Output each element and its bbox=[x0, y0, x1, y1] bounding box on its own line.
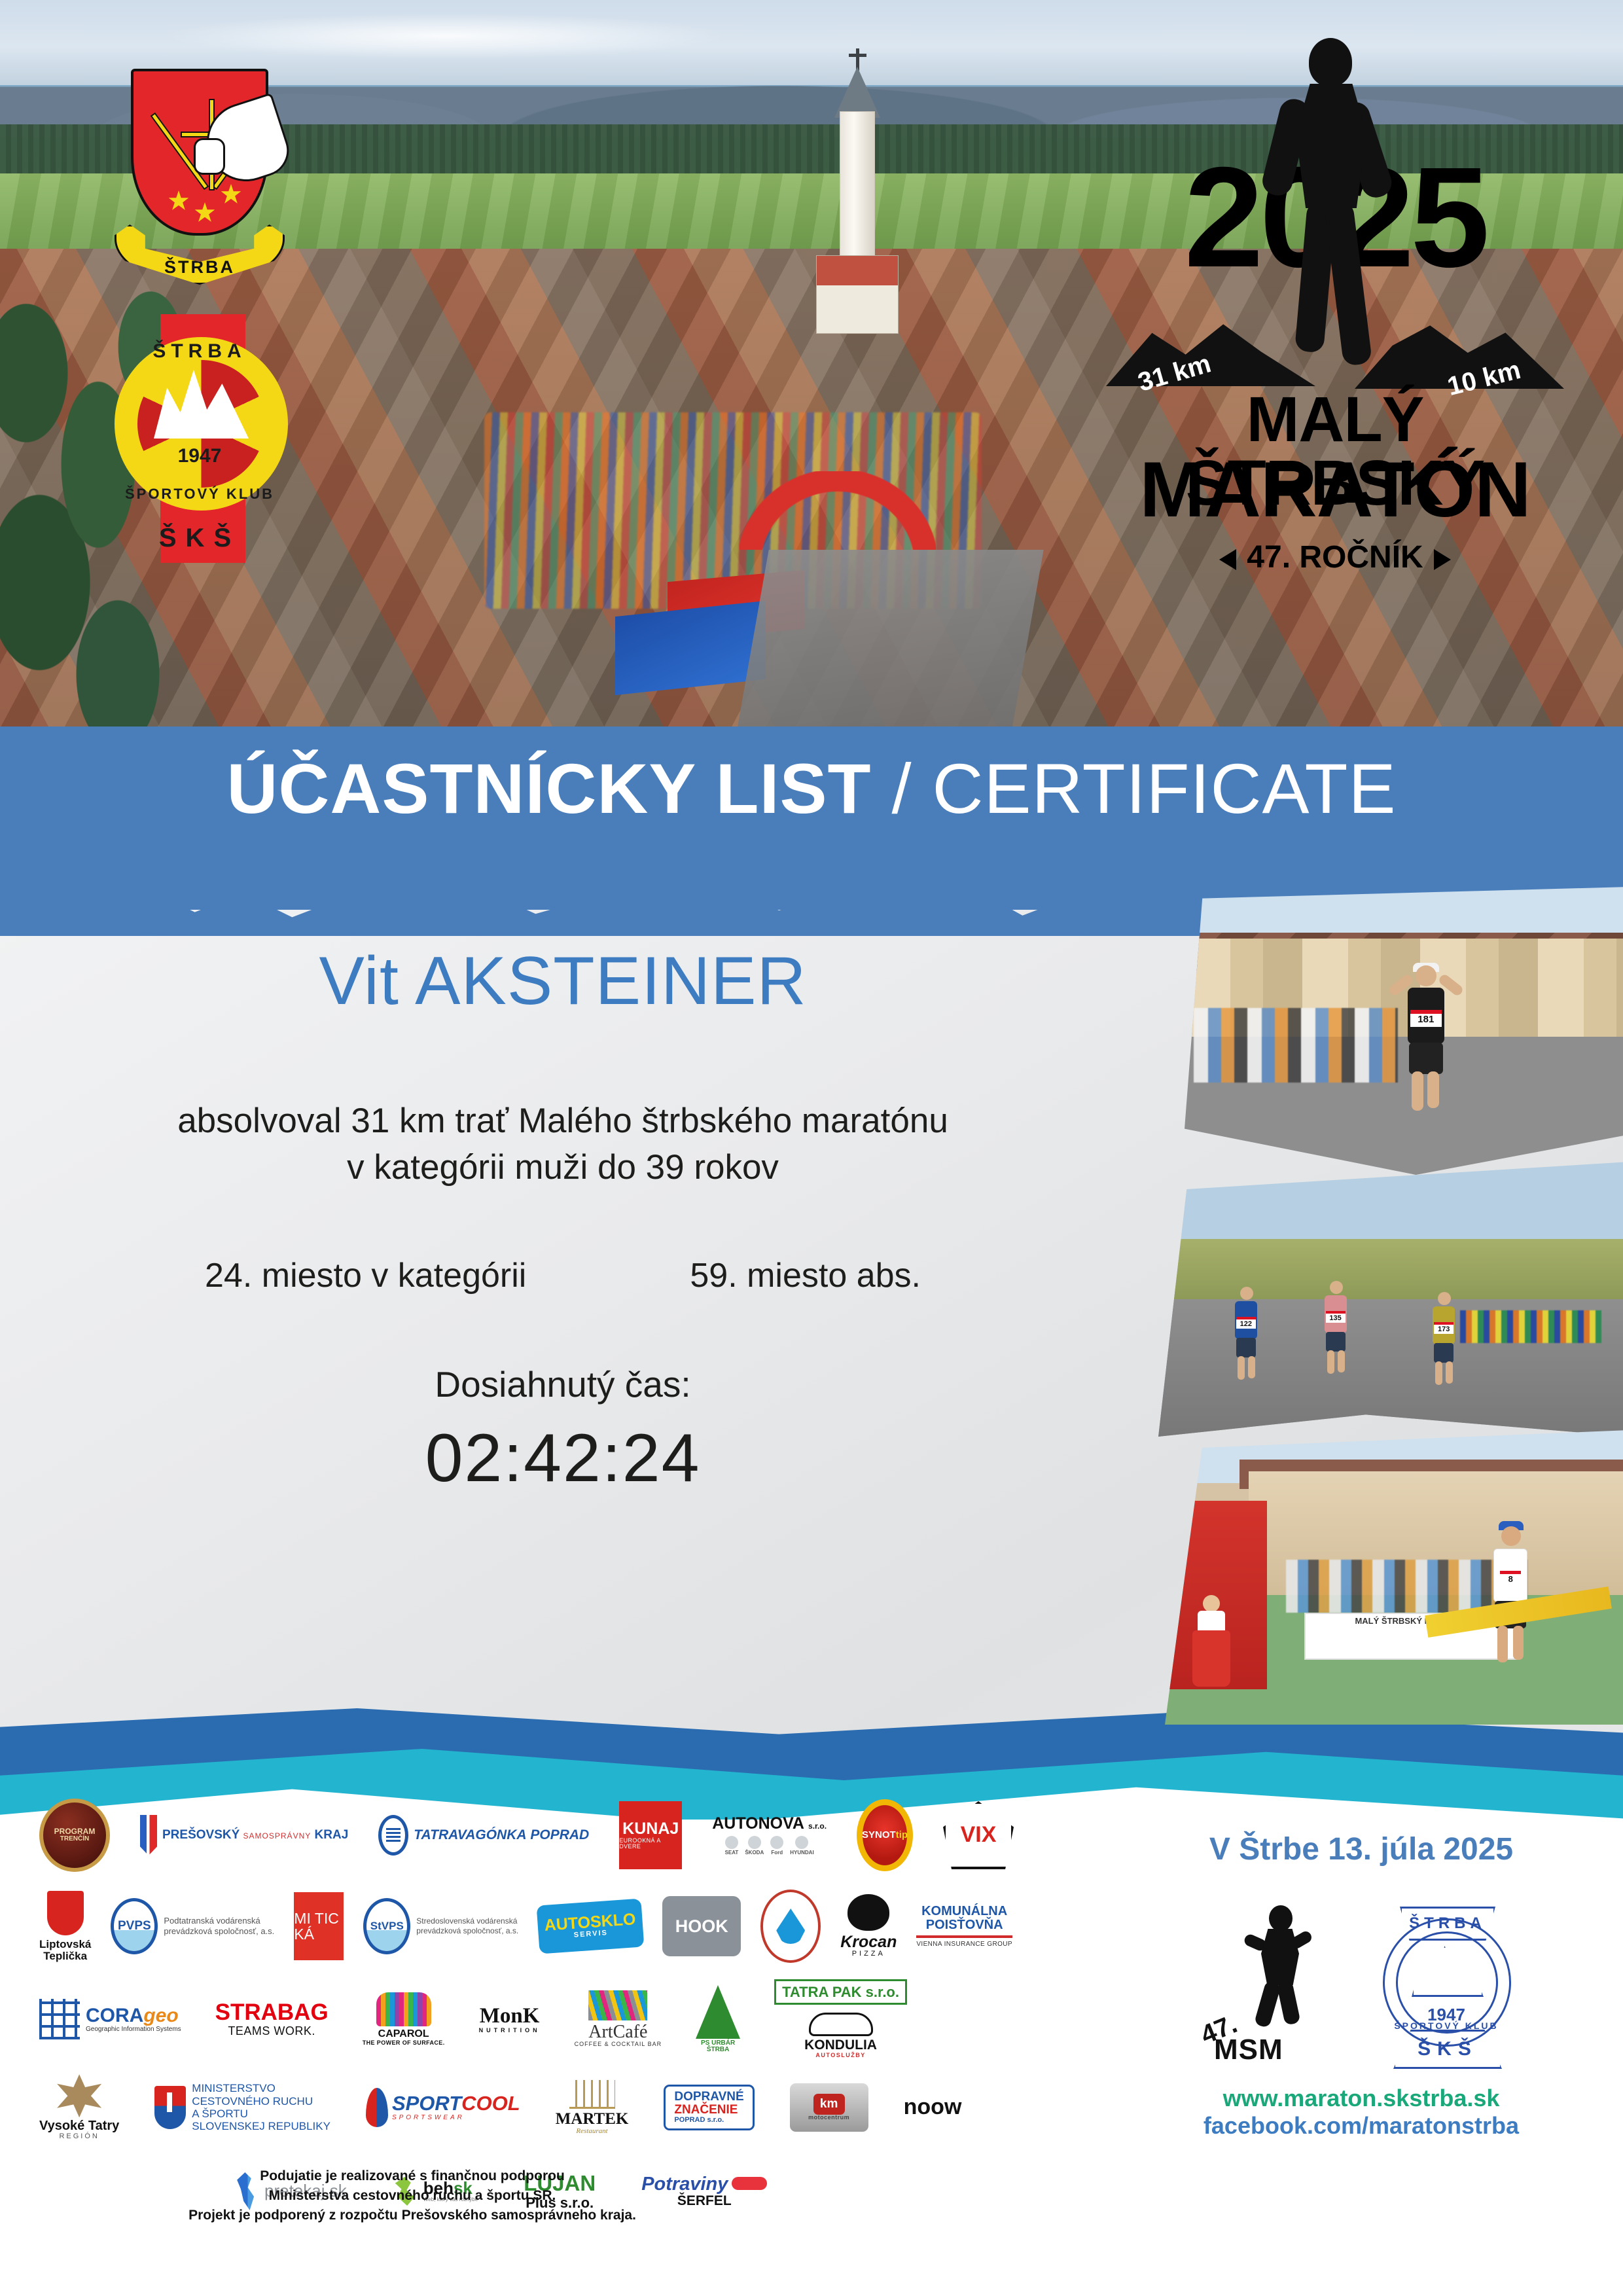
spire bbox=[834, 67, 880, 118]
sponsor-label: AUTONOVA bbox=[712, 1814, 804, 1833]
star-icon bbox=[220, 184, 242, 206]
club-logo-initials: ŠKŠ bbox=[108, 524, 291, 553]
sponsor-hook[interactable]: HOOK bbox=[662, 1896, 741, 1956]
funding-note-line-1: Podujatie je realizované s finančnou pod… bbox=[65, 2166, 759, 2186]
sponsor-stvps[interactable]: StVPS Stredoslovenská vodárenská prevádz… bbox=[363, 1898, 518, 1954]
msm-runner-head bbox=[1269, 1905, 1293, 1931]
caparol-elephant-icon bbox=[376, 1992, 431, 2026]
sponsor-sublabel: geo bbox=[143, 2005, 178, 2026]
event-edition: 47. ROČNÍK bbox=[1099, 539, 1571, 575]
photo1-spectators bbox=[1194, 1008, 1399, 1083]
funding-note-line-2: Ministerstva cestovného ruchu a športu S… bbox=[65, 2186, 759, 2206]
sponsor-label: KUNAJ bbox=[622, 1820, 679, 1837]
sponsor-vix[interactable]: VIX bbox=[943, 1801, 1014, 1869]
title-en: CERTIFICATE bbox=[933, 749, 1397, 828]
sponsor-sublabel: NUTRITION bbox=[479, 2028, 541, 2034]
sponsor-label-block: MINISTERSTVO CESTOVNÉHO RUCHU A ŠPORTU S… bbox=[192, 2082, 330, 2133]
footer-logos: 47. MSM ŠTRBA 1947 ŠPORTOVÝ KLUB ŠKŠ bbox=[1139, 1905, 1584, 2069]
runner-leg-right bbox=[1513, 1626, 1524, 1660]
sponsor-stack-tatrapak-kondulia: TATRA PAK s.r.o. KONDULIA AUTOSLUŽBY bbox=[774, 1979, 907, 2059]
sponsor-label: CORA bbox=[86, 2005, 143, 2026]
sponsor-sublabel2: VIENNA INSURANCE GROUP bbox=[916, 1941, 1012, 1948]
church-nave bbox=[816, 255, 899, 334]
sponsor-label: noow bbox=[904, 2096, 962, 2119]
sponsor-label: VIX bbox=[961, 1823, 997, 1847]
sponsor-label: MINISTERSTVO bbox=[192, 2082, 276, 2094]
runner-head bbox=[1416, 965, 1436, 986]
car-brand-row: SEAT ŠKODA Ford HYUNDAI bbox=[725, 1836, 814, 1856]
sponsor-program-trencin[interactable]: PROGRAM TRENČÍN bbox=[39, 1799, 110, 1872]
runner-leg-left bbox=[1238, 1356, 1245, 1380]
sponsor-row-4: Vysoké Tatry REGIÓN MINISTERSTVO CESTOVN… bbox=[39, 2066, 1152, 2149]
presov-flag-icon bbox=[140, 1815, 157, 1856]
seal-top-label: ŠTRBA bbox=[1400, 1907, 1495, 1941]
sponsor-monk-nutrition[interactable]: MonK NUTRITION bbox=[479, 2005, 541, 2034]
sponsor-sublabel: REGIÓN bbox=[59, 2133, 99, 2141]
sponsor-sublabel2: KRAJ bbox=[315, 1828, 349, 1842]
sponsor-label: MARTEK bbox=[556, 2111, 629, 2128]
contact-urls: www.maraton.skstrba.sk facebook.com/mara… bbox=[1139, 2085, 1584, 2140]
description-line-1: absolvoval 31 km trať Malého štrbského m… bbox=[0, 1098, 1126, 1144]
seal-rotated-label: ŠPORTOVÝ KLUB bbox=[1371, 2020, 1522, 2031]
sponsor-krocan-pizza[interactable]: Krocan PIZZA bbox=[840, 1894, 897, 1958]
msm-logo: 47. MSM bbox=[1201, 1905, 1332, 2069]
funding-note-line-3: Projekt je podporený z rozpočtu Prešovsk… bbox=[65, 2206, 759, 2225]
sponsor-label-block: PREŠOVSKÝ SAMOSPRÁVNY KRAJ bbox=[162, 1829, 348, 1842]
sponsor-label-block: DOPRAVNÉ ZNAČENIE POPRAD s.r.o. bbox=[674, 2090, 743, 2125]
sponsor-label-block: SPORTCOOL SPORTSWEAR bbox=[392, 2093, 520, 2121]
sponsor-label: Stredoslovenská vodárenská bbox=[416, 1916, 517, 1926]
cutlery-icon bbox=[569, 2080, 615, 2109]
title-band: ÚČASTNÍCKY LIST / CERTIFICATE bbox=[0, 726, 1623, 910]
sponsor-sublabel: AUTOSLUŽBY bbox=[815, 2053, 865, 2058]
sponsor-sublabel: TEAMS WORK. bbox=[228, 2025, 315, 2037]
photo-female-runner: 181 bbox=[1185, 887, 1623, 1175]
event-wordmark: 2025 31 km 10 km MALÝ ŠTRBSKÝ MARATÓN 47… bbox=[1099, 26, 1571, 596]
girl-skirt bbox=[1192, 1630, 1230, 1687]
photo3-winner: 8 bbox=[1474, 1518, 1546, 1669]
sponsor-tatravagonka-poprad[interactable]: TATRAVAGÓNKA POPRAD bbox=[378, 1815, 589, 1856]
runner-head bbox=[1240, 1287, 1253, 1300]
msm-abbr: MSM bbox=[1214, 2034, 1283, 2066]
sponsor-label: CAPAROL bbox=[378, 2029, 429, 2040]
bib-number: 181 bbox=[1410, 1014, 1442, 1025]
water-drop-icon bbox=[776, 1909, 805, 1944]
runner-shorts bbox=[1434, 1343, 1454, 1363]
race-bib: 8 bbox=[1500, 1571, 1521, 1587]
page-title: ÚČASTNÍCKY LIST / CERTIFICATE bbox=[0, 747, 1623, 829]
facebook-url[interactable]: facebook.com/maratonstrba bbox=[1139, 2112, 1584, 2140]
corageo-grid-icon bbox=[39, 1999, 80, 2039]
church-icon bbox=[815, 85, 900, 360]
sponsor-kunaj[interactable]: KUNAJ EUROOKNÁ A DVERE bbox=[619, 1801, 682, 1869]
sportcool-flame-icon bbox=[366, 2088, 388, 2127]
sponsor-synot-tip[interactable]: SYNOTtip bbox=[857, 1799, 913, 1871]
sponsor-label: PREŠOVSKÝ bbox=[162, 1828, 240, 1842]
sponsor-tatrapak[interactable]: TATRA PAK s.r.o. bbox=[774, 1979, 907, 2005]
sponsor-autosklo-servis[interactable]: AUTOSKLO SERVIS bbox=[537, 1899, 645, 1954]
sponsor-ministerstvo[interactable]: MINISTERSTVO CESTOVNÉHO RUCHU A ŠPORTU S… bbox=[154, 2082, 330, 2133]
sponsor-autonova[interactable]: AUTONOVA s.r.o. SEAT ŠKODA Ford HYUNDAI bbox=[712, 1815, 827, 1856]
pvps-emblem-icon: PVPS bbox=[111, 1898, 158, 1954]
artcafe-stripes-icon bbox=[588, 1990, 647, 2020]
sponsor-label: SPORT bbox=[392, 2092, 461, 2115]
runner-shorts bbox=[1236, 1338, 1256, 1357]
sponsor-liptovska-teplicka[interactable]: Liptovská Teplička bbox=[39, 1891, 91, 1962]
sponsor-label: MonK bbox=[480, 2005, 540, 2028]
runner-shorts bbox=[1409, 1043, 1443, 1074]
photo2-runner-pack bbox=[1460, 1310, 1601, 1343]
title-separator: / bbox=[871, 749, 932, 828]
sponsor-sublabel3: SLOVENSKEJ REPUBLIKY bbox=[192, 2120, 330, 2132]
seal-bottom-label: ŠKŠ bbox=[1393, 2030, 1502, 2069]
sponsor-sublabel: POISŤOVŇA bbox=[926, 1918, 1003, 1932]
race-bib: 135 bbox=[1326, 1311, 1346, 1323]
runner-head bbox=[1501, 1526, 1521, 1546]
sponsor-sublabel: COFFEE & COCKTAIL BAR bbox=[575, 2041, 662, 2047]
sponsor-row-3: CORAgeo Geographic Information Systems S… bbox=[39, 1975, 1152, 2063]
sponsor-sublabel: COOL bbox=[461, 2092, 520, 2115]
hand bbox=[194, 138, 225, 175]
event-edition-label: 47. ROČNÍK bbox=[1247, 540, 1423, 575]
sponsor-label: KONDULIA bbox=[804, 2038, 877, 2053]
sponsor-label: STRABAG bbox=[215, 2001, 329, 2025]
sponsor-sublabel: ZNAČENIE bbox=[674, 2103, 738, 2117]
shield bbox=[131, 69, 268, 236]
description-line-2: v kategórii muži do 39 rokov bbox=[0, 1144, 1126, 1191]
blue-tent bbox=[615, 601, 766, 695]
sponsor-sublabel2: A ŠPORTU bbox=[192, 2108, 248, 2120]
sponsor-dopravne-znacenie[interactable]: DOPRAVNÉ ZNAČENIE POPRAD s.r.o. bbox=[664, 2085, 754, 2130]
sks-seal-logo: ŠTRBA 1947 ŠPORTOVÝ KLUB ŠKŠ bbox=[1371, 1905, 1522, 2069]
sponsor-sublabel: s.r.o. bbox=[808, 1821, 827, 1831]
race-bib: 122 bbox=[1236, 1317, 1256, 1329]
sponsor-sublabel2: POPRAD s.r.o. bbox=[674, 2117, 743, 2125]
sponsor-label: km bbox=[813, 2094, 845, 2115]
sponsor-sublabel2: Geographic Information Systems bbox=[86, 2026, 181, 2034]
sponsor-corageo[interactable]: CORAgeo Geographic Information Systems bbox=[39, 1999, 181, 2039]
sponsor-label: HOOK bbox=[675, 1917, 728, 1935]
tree-icon bbox=[696, 1985, 740, 2039]
sponsor-komunalna-poistovna[interactable]: KOMUNÁLNA POISŤOVŇA VIENNA INSURANCE GRO… bbox=[916, 1905, 1012, 1948]
sponsor-label: MI TIC KÁ bbox=[294, 1910, 344, 1942]
sponsor-kondulia[interactable]: KONDULIA AUTOSLUŽBY bbox=[804, 2013, 877, 2058]
stvps-emblem-icon: StVPS bbox=[363, 1898, 410, 1954]
sponsor-sublabel: Restaurant bbox=[576, 2128, 607, 2136]
runner-leg-right bbox=[1446, 1361, 1453, 1384]
runner-leg-right bbox=[1248, 1356, 1255, 1378]
club-logo-year: 1947 bbox=[108, 445, 291, 467]
sponsor-label: TATRAVAGÓNKA bbox=[414, 1827, 526, 1842]
sponsor-presovsky-kraj[interactable]: PREŠOVSKÝ SAMOSPRÁVNY KRAJ bbox=[140, 1815, 348, 1856]
sponsor-label: SYNOT bbox=[862, 1830, 896, 1840]
runner-shorts bbox=[1326, 1332, 1346, 1352]
sponsor-sublabel: tip bbox=[896, 1830, 908, 1840]
event-title-line2: MARATÓN bbox=[1099, 450, 1571, 529]
runner-leg-right bbox=[1338, 1350, 1345, 1372]
sponsor-label: Krocan bbox=[840, 1933, 897, 1950]
sponsor-pvps[interactable]: PVPS Podtatranská vodárenská prevádzková… bbox=[111, 1898, 274, 1954]
girl-head bbox=[1203, 1595, 1220, 1612]
mountain-range-icon: 31 km 10 km bbox=[1099, 308, 1571, 393]
sponsor-km-motocentrum[interactable]: km motocentrum bbox=[790, 2083, 868, 2132]
photo-hill-runners: 122 135 173 bbox=[1158, 1162, 1623, 1437]
sponsor-sublabel2: SPORTSWEAR bbox=[392, 2115, 520, 2122]
start-gate bbox=[740, 471, 936, 550]
sponsor-sublabel: TRENČÍN bbox=[60, 1836, 89, 1843]
road bbox=[736, 550, 1043, 733]
club-logo-top-text: ŠTRBA bbox=[108, 340, 291, 363]
sponsor-sublabel: SAMOSPRÁVNY bbox=[243, 1831, 312, 1840]
brand-ford: Ford bbox=[770, 1836, 783, 1856]
sponsor-sublabel: PIZZA bbox=[852, 1950, 885, 1958]
brand-seat: SEAT bbox=[725, 1836, 739, 1856]
brand-hyundai: HYUNDAI bbox=[790, 1836, 813, 1856]
strba-coat-of-arms: ŠTRBA bbox=[115, 69, 285, 285]
sponsor-row-2: Liptovská Teplička PVPS Podtatranská vod… bbox=[39, 1881, 1152, 1971]
divider bbox=[916, 1935, 1012, 1938]
runner-leg-left bbox=[1497, 1626, 1508, 1662]
sponsor-pd-strba[interactable] bbox=[760, 1890, 821, 1963]
runner-torso bbox=[1296, 84, 1366, 208]
runner-leg-left bbox=[1327, 1350, 1334, 1374]
sponsor-label: KOMUNÁLNA bbox=[921, 1905, 1007, 1918]
funding-note: Podujatie je realizované s finančnou pod… bbox=[65, 2166, 759, 2225]
sponsor-vysoke-tatry-region[interactable]: Vysoké Tatry REGIÓN bbox=[39, 2074, 119, 2141]
participant-name: Vit AKSTEINER bbox=[0, 942, 1126, 1020]
sponsor-sublabel: prevádzková spoločnosť, a.s. bbox=[164, 1926, 274, 1936]
sponsor-ps-urbar-strba[interactable]: PS URBÁR ŠTRBA bbox=[696, 1985, 740, 2054]
sponsor-miticka[interactable]: MI TIC KÁ bbox=[294, 1892, 344, 1960]
runner-head bbox=[1330, 1281, 1343, 1294]
photo2-runner-2: 135 bbox=[1314, 1277, 1355, 1375]
sponsor-sublabel: prevádzková spoločnosť, a.s. bbox=[416, 1926, 518, 1935]
finish-time: 02:42:24 bbox=[0, 1420, 1126, 1498]
sponsor-label: DOPRAVNÉ bbox=[674, 2090, 743, 2104]
triangle-left-icon bbox=[1219, 549, 1236, 570]
triangle-right-icon bbox=[1434, 549, 1451, 570]
sponsor-sublabel: motocentrum bbox=[808, 2115, 849, 2121]
sponsor-label-block: Stredoslovenská vodárenská prevádzková s… bbox=[416, 1916, 518, 1936]
photo2-runner-1: 122 bbox=[1224, 1283, 1265, 1381]
placements: 24. miesto v kategórii 59. miesto abs. bbox=[0, 1256, 1126, 1295]
sponsor-sublabel: Teplička bbox=[43, 1950, 87, 1962]
sponsor-label-block: CORAgeo Geographic Information Systems bbox=[86, 2005, 181, 2033]
sponsor-artcafe[interactable]: ArtCafé COFFEE & COCKTAIL BAR bbox=[575, 1990, 662, 2048]
sponsor-label-block: AUTONOVA s.r.o. bbox=[712, 1815, 827, 1832]
car-icon bbox=[809, 2013, 873, 2036]
brand-skoda: ŠKODA bbox=[745, 1836, 764, 1856]
runner-head bbox=[1309, 38, 1352, 86]
edelweiss-icon bbox=[55, 2074, 103, 2117]
place-absolute: 59. miesto abs. bbox=[690, 1256, 921, 1295]
time-label: Dosiahnutý čas: bbox=[0, 1363, 1126, 1405]
sponsor-caparol[interactable]: CAPAROL THE POWER OF SURFACE. bbox=[363, 1992, 445, 2046]
sponsor-label: Podtatranská vodárenská bbox=[164, 1916, 260, 1926]
footer-right-block: V Štrbe 13. júla 2025 47. MSM ŠTRBA bbox=[1139, 1806, 1584, 2140]
sponsor-label: Vysoké Tatry bbox=[39, 2119, 119, 2133]
sponsor-sportcool[interactable]: SPORTCOOL SPORTSWEAR bbox=[366, 2088, 520, 2127]
sponsor-sublabel: SERVIS bbox=[574, 1930, 609, 1940]
coat-of-arms-label: ŠTRBA bbox=[116, 257, 283, 278]
date-and-place: V Štrbe 13. júla 2025 bbox=[1139, 1831, 1584, 1867]
liptovska-crest-icon bbox=[47, 1891, 84, 1935]
turkey-icon bbox=[847, 1894, 889, 1931]
title-sk: ÚČASTNÍCKY LIST bbox=[226, 749, 871, 828]
photo3-folk-costume-girl bbox=[1188, 1595, 1234, 1693]
photo-finish-line: MALÝ ŠTRBSKÝ MARATÓN 8 bbox=[1165, 1430, 1623, 1725]
runner-head bbox=[1438, 1292, 1451, 1305]
race-bib: 173 bbox=[1434, 1322, 1454, 1334]
sponsor-strabag[interactable]: STRABAG TEAMS WORK. bbox=[215, 2001, 329, 2037]
inflatable-arch bbox=[740, 471, 936, 550]
sponsor-label-block: TATRAVAGÓNKA POPRAD bbox=[414, 1828, 589, 1842]
sponsor-label-block: Podtatranská vodárenská prevádzková spol… bbox=[164, 1916, 274, 1937]
star-icon bbox=[168, 190, 190, 213]
msm-runner-icon bbox=[1244, 1905, 1316, 2027]
star-icon bbox=[194, 202, 216, 224]
msm-runner-torso bbox=[1261, 1929, 1299, 1985]
sks-club-logo: ŠTRBA 1947 ŠPORTOVÝ KLUB ŠKŠ bbox=[108, 314, 291, 563]
photo-collage: 181 122 135 bbox=[1139, 887, 1623, 1725]
sponsor-logos: PROGRAM TRENČÍN PREŠOVSKÝ SAMOSPRÁVNY KR… bbox=[39, 1793, 1152, 2225]
sponsor-sublabel: ŠTRBA bbox=[707, 2047, 729, 2054]
club-logo-bottom-text: ŠPORTOVÝ KLUB bbox=[108, 486, 291, 503]
sponsor-row-1: PROGRAM TRENČÍN PREŠOVSKÝ SAMOSPRÁVNY KR… bbox=[39, 1793, 1152, 1877]
tatravagonka-emblem-icon bbox=[378, 1815, 408, 1856]
runner-leg-right bbox=[1427, 1071, 1439, 1108]
photo2-runner-3: 173 bbox=[1422, 1288, 1463, 1386]
certificate-page: ŠTRBA ŠTRBA 1947 ŠPORTOVÝ KLUB ŠKŠ 2025 … bbox=[0, 0, 1623, 2296]
certificate-body: Vit AKSTEINER absolvoval 31 km trať Malé… bbox=[0, 942, 1126, 1498]
race-bib: 181 bbox=[1410, 1010, 1442, 1027]
sponsor-martek-restaurant[interactable]: MARTEK Restaurant bbox=[556, 2080, 629, 2136]
sponsor-sublabel: EUROOKNÁ A DVERE bbox=[619, 1838, 682, 1850]
slovak-crest-icon bbox=[154, 2086, 186, 2129]
sponsor-noow[interactable]: noow bbox=[904, 2096, 962, 2119]
msm-runner-leg-right bbox=[1276, 1980, 1300, 2026]
sponsor-label: Liptovská bbox=[39, 1939, 91, 1950]
runner-leg-left bbox=[1412, 1071, 1423, 1111]
website-url[interactable]: www.maraton.skstrba.sk bbox=[1139, 2085, 1584, 2112]
sponsor-label: ArtCafé bbox=[588, 2022, 647, 2041]
sponsor-sublabel: POPRAD bbox=[530, 1827, 589, 1842]
sponsor-sublabel: THE POWER OF SURFACE. bbox=[363, 2040, 445, 2046]
photo1-runner: 181 bbox=[1389, 961, 1461, 1119]
runner-leg-left bbox=[1435, 1361, 1442, 1385]
place-in-category: 24. miesto v kategórii bbox=[205, 1256, 526, 1295]
sponsor-sublabel: CESTOVNÉHO RUCHU bbox=[192, 2095, 313, 2108]
